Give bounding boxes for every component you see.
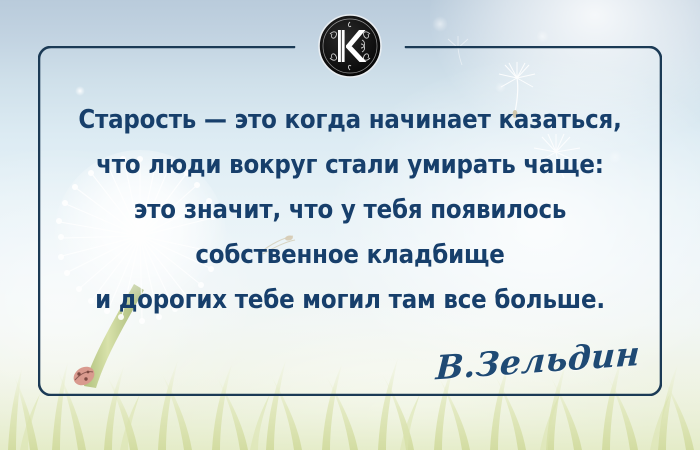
ladybug-icon <box>70 363 98 389</box>
sparkle-icon <box>536 30 549 43</box>
sparkle-icon <box>432 16 448 32</box>
quote-card: Старость — это когда начинает казаться, … <box>0 0 700 450</box>
sparkle-icon <box>495 82 506 93</box>
quote-line: это значит, что у тебя появилось <box>75 188 626 233</box>
floating-dandelion-seed <box>442 34 476 68</box>
ornate-letter-k-emblem[interactable] <box>318 14 382 78</box>
quote-line: что люди вокруг стали умирать чаще: <box>75 143 626 188</box>
quote-text: Старость — это когда начинает казаться, … <box>75 98 626 323</box>
quote-line: собственное кладбище <box>75 233 626 278</box>
sparkle-icon <box>75 86 85 96</box>
quote-line: Старость — это когда начинает казаться, <box>75 98 626 143</box>
author-signature: В.Зельдин <box>400 334 641 390</box>
quote-line: и дорогих тебе могил там все больше. <box>75 278 626 323</box>
